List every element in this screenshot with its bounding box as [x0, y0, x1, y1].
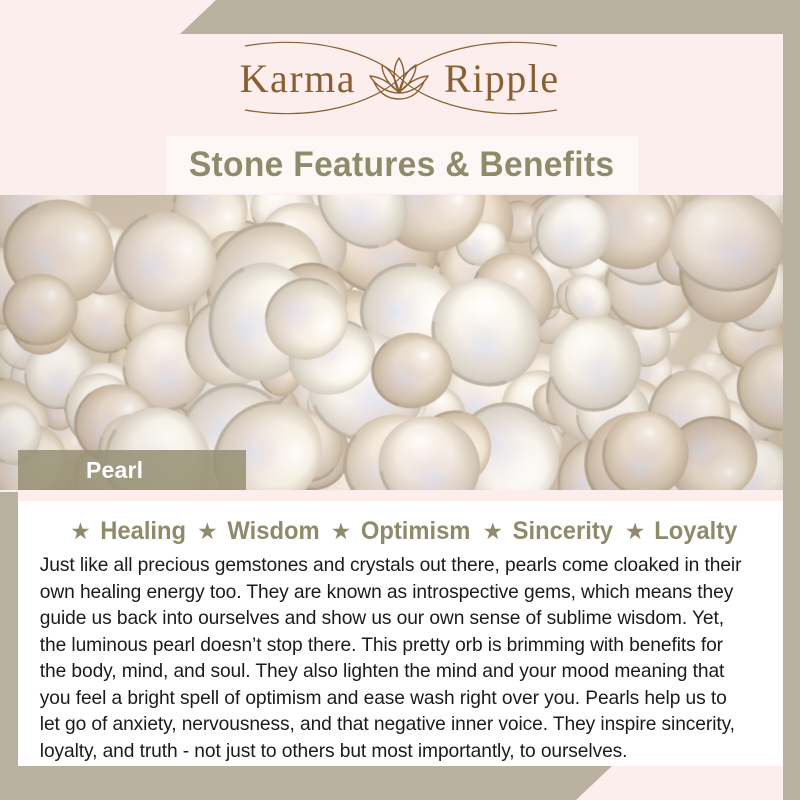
- benefit-loyalty: Loyalty: [655, 517, 738, 546]
- pearl-photo: [0, 195, 783, 490]
- page-title: Stone Features & Benefits: [189, 145, 614, 185]
- benefits-row: ★Healing★Wisdom★Optimism★Sincerity★Loyal…: [26, 517, 775, 546]
- frame-band-bottom: [0, 766, 612, 800]
- star-icon: ★: [197, 520, 218, 543]
- benefit-wisdom: Wisdom: [227, 517, 319, 546]
- brand-name-left: Karma: [196, 55, 362, 102]
- frame-band-top: [180, 0, 800, 34]
- star-icon: ★: [483, 520, 504, 543]
- star-icon: ★: [70, 520, 91, 543]
- frame-band-left: [0, 492, 18, 800]
- brand-name-right: Ripple: [436, 55, 604, 102]
- lotus-icon: [362, 52, 436, 104]
- star-icon: ★: [625, 520, 646, 543]
- benefit-healing: Healing: [100, 517, 186, 546]
- pearl-photo-canvas: [0, 195, 783, 490]
- brand-logo: Karma Ripple: [0, 34, 800, 122]
- infographic-page: Karma Ripple: [0, 0, 800, 800]
- benefit-optimism: Optimism: [361, 517, 471, 546]
- title-banner: Stone Features & Benefits: [166, 136, 638, 194]
- body-paragraph: Just like all precious gemstones and cry…: [26, 552, 764, 764]
- photo-separator: [18, 490, 783, 501]
- star-icon: ★: [331, 520, 352, 543]
- stone-name-label: Pearl: [18, 457, 143, 484]
- stone-name-bar: Pearl: [18, 450, 246, 490]
- benefit-sincerity: Sincerity: [513, 517, 613, 546]
- content-panel: ★Healing★Wisdom★Optimism★Sincerity★Loyal…: [18, 501, 783, 766]
- pearl-photo-image: [0, 195, 783, 490]
